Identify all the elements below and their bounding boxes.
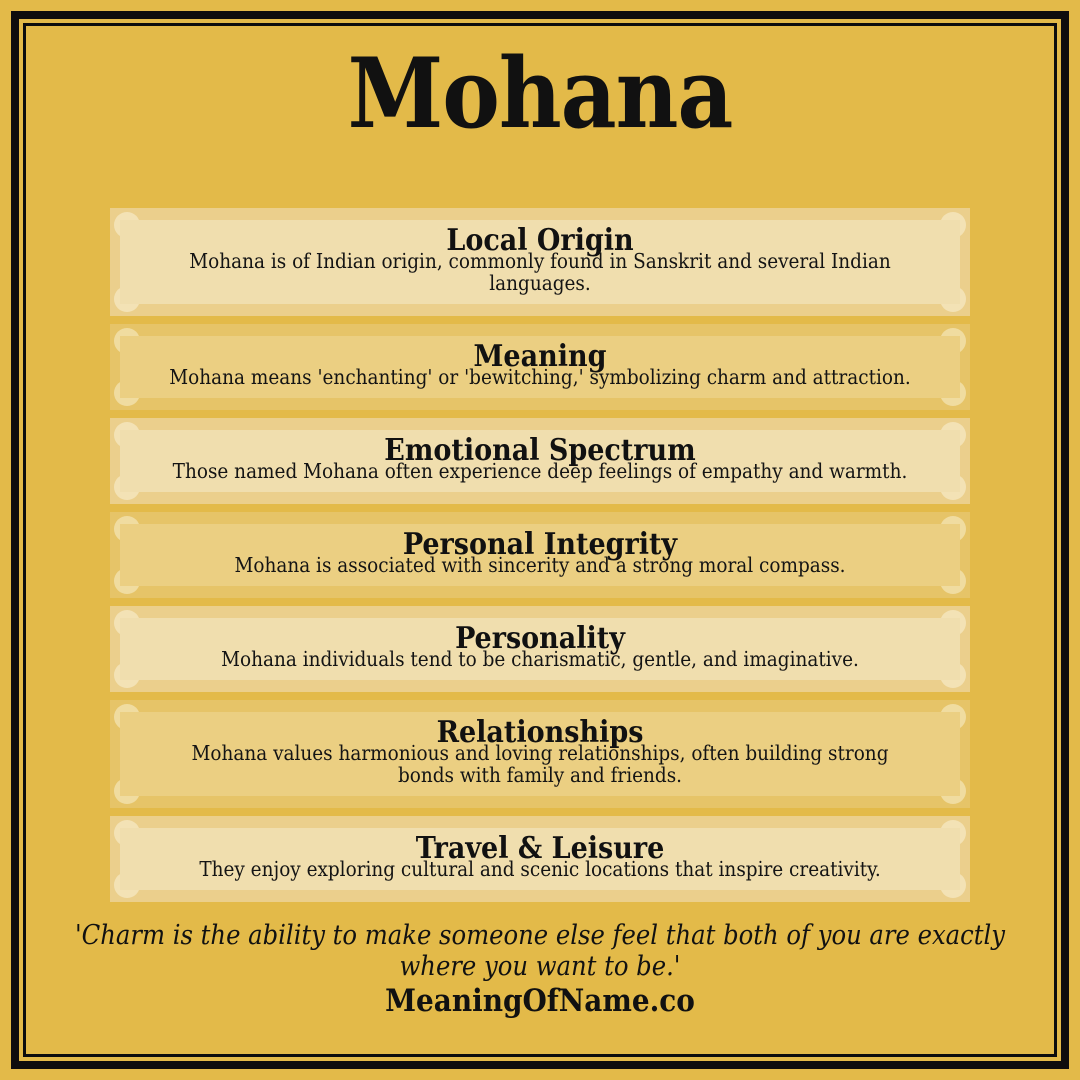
page-title: Mohana xyxy=(26,46,1054,142)
attribute-card: PersonalityMohana individuals tend to be… xyxy=(110,606,970,692)
attribute-card-body: Mohana is of Indian origin, commonly fou… xyxy=(166,250,914,294)
attribute-card: MeaningMohana means 'enchanting' or 'bew… xyxy=(110,324,970,410)
poster-content: Mohana Local OriginMohana is of Indian o… xyxy=(26,26,1054,1054)
attribute-card-panel: Travel & LeisureThey enjoy exploring cul… xyxy=(120,828,960,890)
attribute-card-body: Mohana is associated with sincerity and … xyxy=(166,554,914,576)
attribute-card-panel: Local OriginMohana is of Indian origin, … xyxy=(120,220,960,304)
attribute-card-panel: Emotional SpectrumThose named Mohana oft… xyxy=(120,430,960,492)
footer-quote: 'Charm is the ability to make someone el… xyxy=(26,920,1054,982)
attribute-card: Emotional SpectrumThose named Mohana oft… xyxy=(110,418,970,504)
poster-footer: 'Charm is the ability to make someone el… xyxy=(26,920,1054,1018)
attribute-card-body: They enjoy exploring cultural and scenic… xyxy=(166,858,914,880)
attribute-card-body: Mohana values harmonious and loving rela… xyxy=(166,742,914,786)
attribute-card-list: Local OriginMohana is of Indian origin, … xyxy=(110,208,970,910)
attribute-card-body: Mohana means 'enchanting' or 'bewitching… xyxy=(166,366,914,388)
attribute-card: Local OriginMohana is of Indian origin, … xyxy=(110,208,970,316)
footer-brand: MeaningOfName.co xyxy=(26,984,1054,1018)
attribute-card-panel: Personal IntegrityMohana is associated w… xyxy=(120,524,960,586)
attribute-card: Travel & LeisureThey enjoy exploring cul… xyxy=(110,816,970,902)
attribute-card-panel: RelationshipsMohana values harmonious an… xyxy=(120,712,960,796)
attribute-card: Personal IntegrityMohana is associated w… xyxy=(110,512,970,598)
attribute-card-panel: MeaningMohana means 'enchanting' or 'bew… xyxy=(120,336,960,398)
name-meaning-poster: Mohana Local OriginMohana is of Indian o… xyxy=(0,0,1080,1080)
attribute-card-body: Mohana individuals tend to be charismati… xyxy=(166,648,914,670)
attribute-card: RelationshipsMohana values harmonious an… xyxy=(110,700,970,808)
attribute-card-body: Those named Mohana often experience deep… xyxy=(166,460,914,482)
attribute-card-panel: PersonalityMohana individuals tend to be… xyxy=(120,618,960,680)
